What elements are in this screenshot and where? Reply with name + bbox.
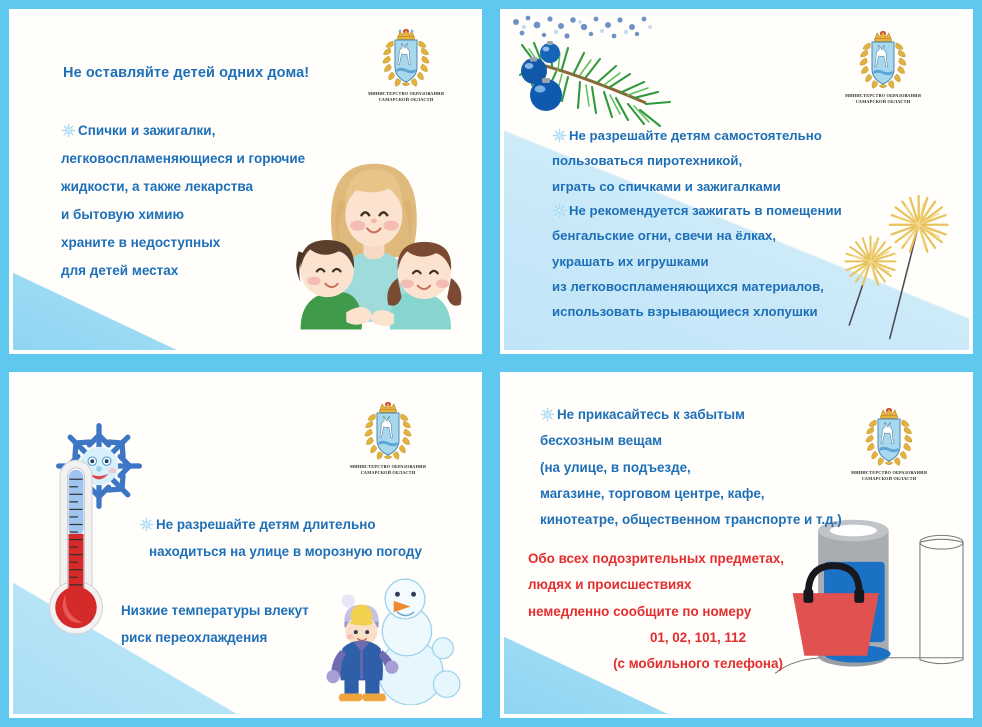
alert-line: Обо всех подозрительных предметах,	[528, 546, 868, 572]
safety-bullet: Не прикасайтесь к забытым бесхозным веща…	[540, 402, 842, 533]
ministry-line-2: САМАРСКОЙ ОБЛАСТИ	[368, 97, 444, 103]
snowflake-bullet-icon	[540, 405, 555, 420]
ministry-name: МИНИСТЕРСТВО ОБРАЗОВАНИЯ САМАРСКОЙ ОБЛАС…	[368, 91, 444, 103]
slide-frame: МИНИСТЕРСТВО ОБРАЗОВАНИЯ САМАРСКОЙ ОБЛАС…	[0, 363, 491, 727]
slide-title: Не оставляйте детей одних дома!	[63, 65, 309, 81]
bullet-line: магазине, торговом центре, кафе,	[540, 481, 842, 507]
bullet-line: находиться на улице в морозную погоду	[139, 539, 422, 566]
alert-line: немедленно сообщите по номеру	[528, 599, 868, 625]
bullet-line: Спички и зажигалки,	[78, 123, 215, 138]
bullet-line: храните в недоступных	[61, 229, 305, 257]
ministry-line-2: САМАРСКОЙ ОБЛАСТИ	[845, 99, 921, 105]
slide-unattended-items: МИНИСТЕРСТВО ОБРАЗОВАНИЯ САМАРСКОЙ ОБЛАС…	[491, 363, 982, 727]
safety-bullet: Не разрешайте детям длительно находиться…	[139, 512, 422, 566]
poster-grid: МИНИСТЕРСТВО ОБРАЗОВАНИЯ САМАРСКОЙ ОБЛАС…	[0, 0, 982, 727]
ministry-line-2: САМАРСКОЙ ОБЛАСТИ	[350, 470, 426, 476]
ministry-line-2: САМАРСКОЙ ОБЛАСТИ	[851, 476, 927, 482]
note-line: риск переохлаждения	[121, 625, 309, 652]
bullet-line: для детей местах	[61, 257, 305, 285]
bullet-line: жидкости, а также лекарства	[61, 173, 305, 201]
mother-with-children-illustration	[272, 139, 472, 344]
snowflake-bullet-icon	[61, 120, 76, 135]
slide-cold-weather: МИНИСТЕРСТВО ОБРАЗОВАНИЯ САМАРСКОЙ ОБЛАС…	[0, 363, 491, 727]
child-with-snowman-illustration	[312, 563, 464, 710]
ministry-name: МИНИСТЕРСТВО ОБРАЗОВАНИЯ САМАРСКОЙ ОБЛАС…	[350, 464, 426, 476]
bullet-line: из легковоспламеняющихся материалов,	[552, 274, 842, 299]
bullet-line: украшать их игрушками	[552, 249, 842, 274]
bullet-line: (на улице, в подъезде,	[540, 455, 842, 481]
bullet-line: и бытовую химию	[61, 201, 305, 229]
alert-line: людях и происшествиях	[528, 572, 868, 598]
bullet-line: Не разрешайте детям длительно	[156, 517, 376, 532]
snowflake-bullet-icon	[139, 515, 154, 530]
slide-surface: МИНИСТЕРСТВО ОБРАЗОВАНИЯ САМАРСКОЙ ОБЛАС…	[13, 376, 478, 714]
bullet-line: легковоспламеняющиеся и горючие	[61, 145, 305, 173]
coat-of-arms-icon	[362, 400, 414, 462]
slide-pyrotechnics: МИНИСТЕРСТВО ОБРАЗОВАНИЯ САМАРСКОЙ ОБЛАС…	[491, 0, 982, 363]
bullet-line: бесхозным вещам	[540, 428, 842, 454]
bullet-line: пользоваться пиротехникой,	[552, 148, 822, 173]
slide-surface: МИНИСТЕРСТВО ОБРАЗОВАНИЯ САМАРСКОЙ ОБЛАС…	[504, 13, 969, 350]
coat-of-arms-icon	[380, 27, 432, 89]
thermometer-illustration	[43, 454, 109, 649]
bullet-line: Не рекомендуется зажигать в помещении	[569, 203, 842, 218]
safety-bullet: Спички и зажигалки, легковоспламеняющиес…	[61, 117, 305, 285]
slide-surface: МИНИСТЕРСТВО ОБРАЗОВАНИЯ САМАРСКОЙ ОБЛАС…	[504, 376, 969, 714]
bullet-line: бенгальские огни, свечи на ёлках,	[552, 223, 842, 248]
ministry-emblem: МИНИСТЕРСТВО ОБРАЗОВАНИЯ САМАРСКОЙ ОБЛАС…	[350, 400, 426, 476]
slide-children-alone: МИНИСТЕРСТВО ОБРАЗОВАНИЯ САМАРСКОЙ ОБЛАС…	[0, 0, 491, 363]
slide-frame: МИНИСТЕРСТВО ОБРАЗОВАНИЯ САМАРСКОЙ ОБЛАС…	[491, 363, 982, 727]
emergency-alert: Обо всех подозрительных предметах, людях…	[528, 546, 868, 677]
ministry-name: МИНИСТЕРСТВО ОБРАЗОВАНИЯ САМАРСКОЙ ОБЛАС…	[851, 470, 927, 482]
sparklers-illustration	[830, 173, 965, 350]
bullet-line: играть со спичками и зажигалками	[552, 174, 822, 199]
bullet-line: кинотеатре, общественном транспорте и т.…	[540, 507, 842, 533]
fir-branch-with-blue-baubles-illustration	[504, 13, 674, 138]
bullet-line: Не разрешайте детям самостоятельно	[569, 128, 822, 143]
safety-bullet: Не разрешайте детям самостоятельно польз…	[552, 123, 822, 199]
bullet-line: использовать взрывающиеся хлопушки	[552, 299, 842, 324]
slide-surface: МИНИСТЕРСТВО ОБРАЗОВАНИЯ САМАРСКОЙ ОБЛАС…	[13, 13, 478, 350]
bullet-line: Не прикасайтесь к забытым	[557, 407, 745, 422]
cold-risk-note: Низкие температуры влекут риск переохлаж…	[121, 598, 309, 652]
ministry-emblem: МИНИСТЕРСТВО ОБРАЗОВАНИЯ САМАРСКОЙ ОБЛАС…	[851, 406, 927, 482]
safety-bullet: Не рекомендуется зажигать в помещении бе…	[552, 198, 842, 325]
emergency-phone-numbers: 01, 02, 101, 112	[528, 625, 868, 651]
slide-frame: МИНИСТЕРСТВО ОБРАЗОВАНИЯ САМАРСКОЙ ОБЛАС…	[491, 0, 982, 363]
ministry-emblem: МИНИСТЕРСТВО ОБРАЗОВАНИЯ САМАРСКОЙ ОБЛАС…	[368, 27, 444, 103]
ministry-name: МИНИСТЕРСТВО ОБРАЗОВАНИЯ САМАРСКОЙ ОБЛАС…	[845, 93, 921, 105]
snowflake-bullet-icon	[552, 126, 567, 141]
note-line: Низкие температуры влекут	[121, 598, 309, 625]
coat-of-arms-icon	[857, 29, 909, 91]
coat-of-arms-icon	[863, 406, 915, 468]
slide-frame: МИНИСТЕРСТВО ОБРАЗОВАНИЯ САМАРСКОЙ ОБЛАС…	[0, 0, 491, 363]
emergency-phone-note: (с мобильного телефона)	[528, 651, 868, 677]
snowflake-bullet-icon	[552, 201, 567, 216]
ministry-emblem: МИНИСТЕРСТВО ОБРАЗОВАНИЯ САМАРСКОЙ ОБЛАС…	[845, 29, 921, 105]
